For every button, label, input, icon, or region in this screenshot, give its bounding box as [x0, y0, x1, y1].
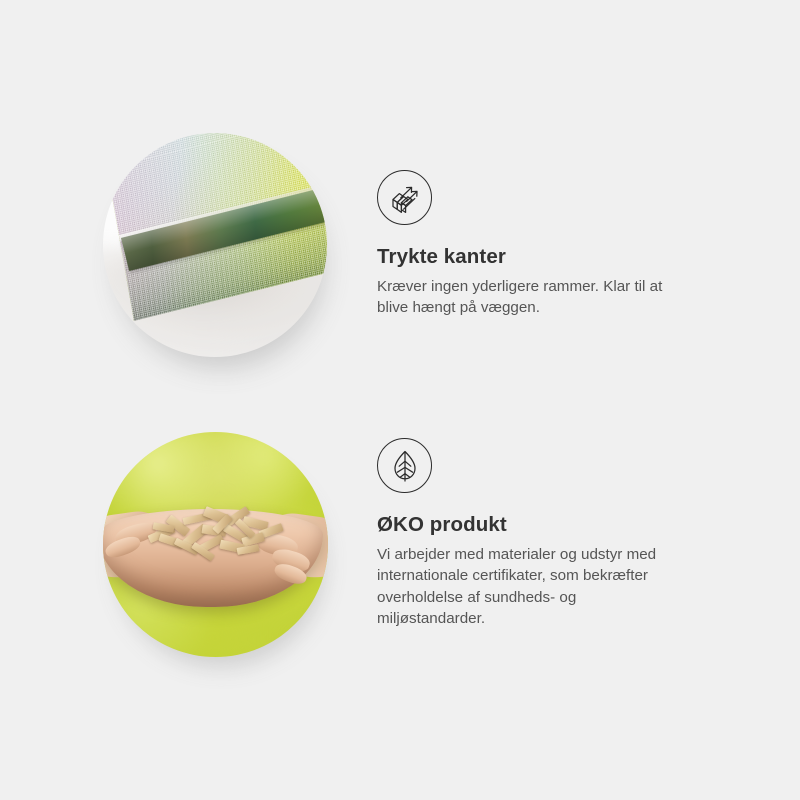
- hands-with-wood-chips-photo: [103, 432, 328, 657]
- canvas-corner-photo: [103, 133, 327, 357]
- product-features-panel: Trykte kanter Kræver ingen yderligere ra…: [0, 0, 800, 800]
- feature-description: Kræver ingen yderligere rammer. Klar til…: [377, 276, 745, 319]
- wood-chip-pile: [139, 502, 298, 563]
- feature-printed-edges: Trykte kanter Kræver ingen yderligere ra…: [0, 120, 800, 390]
- canvas-wrapped-edge-icon: [377, 170, 432, 225]
- feature-description: Vi arbejder med materialer og udstyr med…: [377, 544, 745, 630]
- feature-title: Trykte kanter: [377, 245, 757, 270]
- feature-2-copy: ØKO produkt Vi arbejder med materialer o…: [377, 438, 757, 630]
- cupped-hands: [103, 500, 328, 617]
- feature-title: ØKO produkt: [377, 513, 757, 538]
- feature-1-copy: Trykte kanter Kræver ingen yderligere ra…: [377, 170, 757, 319]
- leaf-icon: [377, 438, 432, 493]
- feature-eco-product: ØKO produkt Vi arbejder med materialer o…: [0, 415, 800, 675]
